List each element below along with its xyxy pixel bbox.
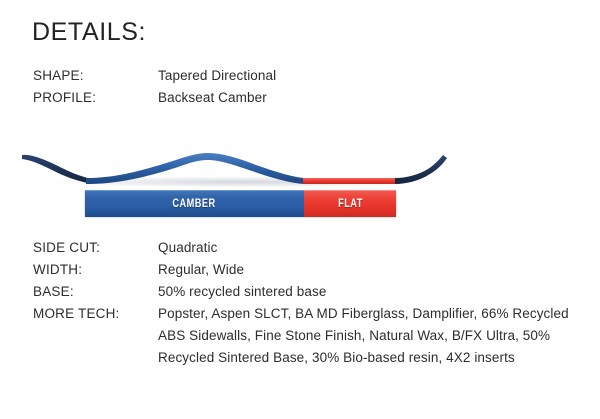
spec-row-base: BASE: 50% recycled sintered base: [33, 284, 578, 299]
more-tech-line-3: Recycled Sintered Base, 30% Bio-based re…: [158, 350, 578, 365]
spec-value-shape: Tapered Directional: [158, 68, 578, 83]
spec-row-more-tech: MORE TECH: Popster, Aspen SLCT, BA MD Fi…: [33, 306, 578, 365]
spec-label-side-cut: SIDE CUT:: [33, 240, 158, 255]
board-nose: [22, 155, 88, 183]
spec-row-profile: PROFILE: Backseat Camber: [33, 90, 578, 105]
spec-row-width: WIDTH: Regular, Wide: [33, 262, 578, 277]
spec-list-top: SHAPE: Tapered Directional PROFILE: Back…: [33, 68, 578, 112]
legend-label-camber: CAMBER: [173, 198, 216, 210]
spec-label-width: WIDTH:: [33, 262, 158, 277]
board-flat-section: [303, 178, 396, 184]
more-tech-line-2: ABS Sidewalls, Fine Stone Finish, Natura…: [158, 328, 578, 343]
spec-value-profile: Backseat Camber: [158, 90, 578, 105]
more-tech-line-1: Popster, Aspen SLCT, BA MD Fiberglass, D…: [158, 306, 578, 321]
spec-label-profile: PROFILE:: [33, 90, 158, 105]
legend-segment-camber: CAMBER: [85, 190, 304, 217]
snowboard-profile-diagram: [0, 138, 600, 236]
spec-label-base: BASE:: [33, 284, 158, 299]
details-page: DETAILS: SHAPE: Tapered Directional PROF…: [0, 0, 600, 419]
spec-row-shape: SHAPE: Tapered Directional: [33, 68, 578, 83]
spec-row-side-cut: SIDE CUT: Quadratic: [33, 240, 578, 255]
spec-label-shape: SHAPE:: [33, 68, 158, 83]
profile-legend-bar: CAMBER FLAT: [85, 190, 396, 216]
legend-label-flat: FLAT: [338, 198, 363, 210]
spec-value-width: Regular, Wide: [158, 262, 578, 277]
spec-label-more-tech: MORE TECH:: [33, 306, 158, 321]
legend-segment-flat: FLAT: [304, 190, 396, 217]
spec-list-bottom: SIDE CUT: Quadratic WIDTH: Regular, Wide…: [33, 240, 578, 372]
spec-value-base: 50% recycled sintered base: [158, 284, 578, 299]
spec-value-more-tech: Popster, Aspen SLCT, BA MD Fiberglass, D…: [158, 306, 578, 365]
spec-value-side-cut: Quadratic: [158, 240, 578, 255]
page-title: DETAILS:: [32, 18, 146, 47]
